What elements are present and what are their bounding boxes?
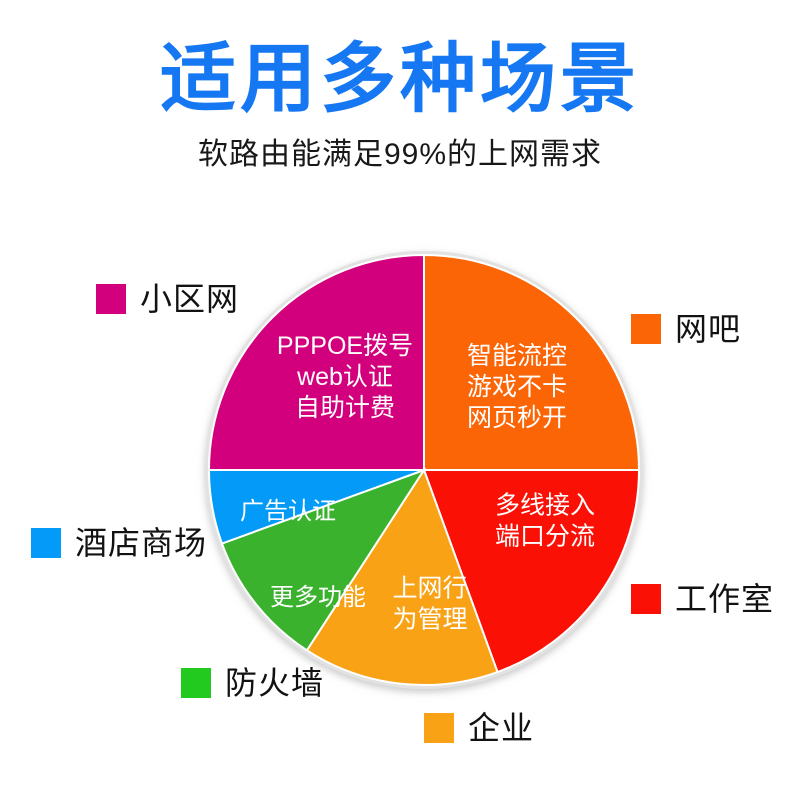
legend-item-hotel[interactable]: 酒店商场 bbox=[31, 527, 207, 559]
legend-swatch-cafe bbox=[631, 314, 661, 344]
pie-slice-label-line: 为管理 bbox=[392, 605, 467, 633]
legend-item-cafe[interactable]: 网吧 bbox=[631, 313, 741, 345]
pie-slice-label-line: 智能流控 bbox=[467, 342, 567, 370]
legend-swatch-firewall bbox=[181, 668, 211, 698]
pie-slice-label-line: 广告认证 bbox=[240, 498, 336, 525]
pie-slice-label-line: 网页秒开 bbox=[467, 404, 567, 432]
pie-slice-label-line: 上网行 bbox=[392, 574, 467, 602]
pie-slice-label-line: 端口分流 bbox=[495, 522, 595, 550]
pie-slice-label-hotel: 广告认证 bbox=[240, 498, 336, 525]
legend-label-studio: 工作室 bbox=[675, 583, 774, 615]
legend-swatch-company bbox=[424, 713, 454, 743]
legend-label-company: 企业 bbox=[468, 712, 534, 744]
legend-swatch-hotel bbox=[31, 528, 61, 558]
pie-slice-label-community: PPPOE拨号web认证自助计费 bbox=[277, 332, 413, 422]
pie-slice-label-cafe: 智能流控游戏不卡网页秒开 bbox=[467, 342, 567, 432]
legend-label-hotel: 酒店商场 bbox=[75, 527, 207, 559]
pie-slice-label-line: 游戏不卡 bbox=[467, 373, 567, 401]
legend-label-cafe: 网吧 bbox=[675, 313, 741, 345]
legend-item-studio[interactable]: 工作室 bbox=[631, 583, 774, 615]
pie-chart-svg: PPPOE拨号web认证自助计费智能流控游戏不卡网页秒开多线接入端口分流上网行为… bbox=[0, 0, 800, 800]
pie-slice-label-line: PPPOE拨号 bbox=[277, 332, 413, 360]
legend-label-community: 小区网 bbox=[140, 283, 239, 315]
pie-chart: PPPOE拨号web认证自助计费智能流控游戏不卡网页秒开多线接入端口分流上网行为… bbox=[0, 0, 800, 800]
pie-slice-label-line: 自助计费 bbox=[295, 394, 395, 422]
legend-item-company[interactable]: 企业 bbox=[424, 712, 534, 744]
pie-slice-label-line: 多线接入 bbox=[495, 491, 595, 519]
pie-slice-label-line: 更多功能 bbox=[270, 584, 366, 611]
pie-slice-label-firewall: 更多功能 bbox=[270, 584, 366, 611]
pie-slice-label-line: web认证 bbox=[296, 363, 393, 391]
legend-item-community[interactable]: 小区网 bbox=[96, 283, 239, 315]
legend-swatch-community bbox=[96, 284, 126, 314]
legend-swatch-studio bbox=[631, 584, 661, 614]
legend-label-firewall: 防火墙 bbox=[225, 667, 324, 699]
legend-item-firewall[interactable]: 防火墙 bbox=[181, 667, 324, 699]
